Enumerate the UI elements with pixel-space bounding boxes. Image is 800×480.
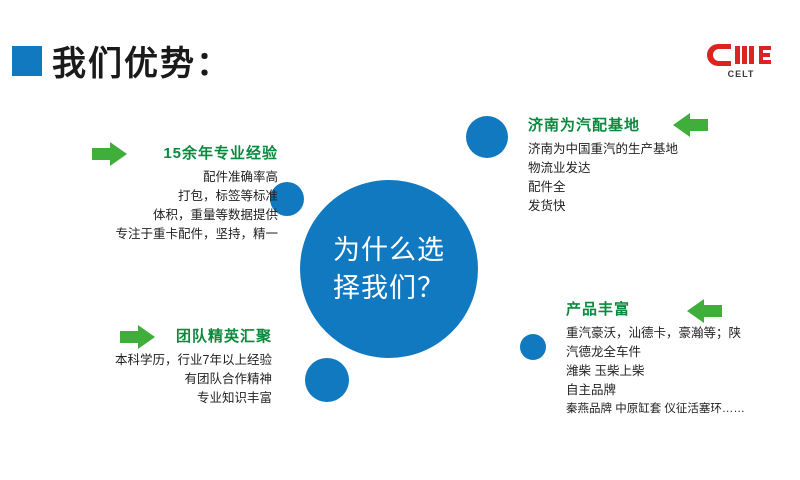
feature-line: 体积，重量等数据提供 [0,206,278,225]
feature-heading-team: 团队精英汇聚 [176,325,272,346]
feature-line: 秦燕品牌 中原缸套 仪征活塞环…… [566,400,800,419]
feature-body-experience: 配件准确率高 打包，标签等标准 体积，重量等数据提供 专注于重卡配件，坚持，精一 [0,168,292,244]
celt-logo-icon: CELT [704,38,778,82]
feature-block-team: 团队精英汇聚 本科学历，行业7年以上经验 有团队合作精神 专业知识丰富 [0,325,300,408]
feature-heading-experience: 15余年专业经验 [163,142,278,163]
logo-text: CELT [728,69,755,79]
feature-line: 汽德龙全车件 [566,343,800,362]
feature-line: 专注于重卡配件，坚持，精一 [0,225,278,244]
feature-line: 济南为中国重汽的生产基地 [528,140,788,159]
logo-mark-icon [705,42,777,68]
center-line-2: 择我们？ [333,269,445,307]
feature-heading-products: 产品丰富 [566,298,800,319]
feature-line: 重汽豪沃，汕德卡，豪瀚等；陕 [566,324,800,343]
feature-body-products: 重汽豪沃，汕德卡，豪瀚等；陕 汽德龙全车件 潍柴 玉柴上柴 自主品牌 秦燕品牌 … [566,324,800,419]
feature-block-experience: 15余年专业经验 配件准确率高 打包，标签等标准 体积，重量等数据提供 专注于重… [0,142,292,244]
center-circle: 为什么选 择我们？ [300,180,478,358]
feature-block-base: 济南为汽配基地 济南为中国重汽的生产基地 物流业发达 配件全 发货快 [528,114,788,216]
feature-line: 专业知识丰富 [0,389,272,408]
feature-line: 打包，标签等标准 [0,187,278,206]
blue-dot-icon-team [305,358,349,402]
feature-line: 配件准确率高 [0,168,278,187]
center-circle-text: 为什么选 择我们？ [333,231,445,307]
title-bullet-icon [12,46,42,76]
feature-line: 潍柴 玉柴上柴 [566,362,800,381]
feature-heading-base: 济南为汽配基地 [528,114,788,135]
feature-line: 物流业发达 [528,159,788,178]
blue-dot-icon-base [466,116,508,158]
slide-canvas: 我们优势： CELT 为什么选 择我们？ 15余年专业经验 [0,0,800,480]
feature-body-base: 济南为中国重汽的生产基地 物流业发达 配件全 发货快 [528,140,788,216]
feature-block-products: 产品丰富 重汽豪沃，汕德卡，豪瀚等；陕 汽德龙全车件 潍柴 玉柴上柴 自主品牌 … [566,298,800,419]
feature-line: 配件全 [528,178,788,197]
feature-line: 有团队合作精神 [0,370,272,389]
feature-line: 自主品牌 [566,381,800,400]
feature-body-team: 本科学历，行业7年以上经验 有团队合作精神 专业知识丰富 [0,351,300,408]
feature-line: 本科学历，行业7年以上经验 [0,351,272,370]
feature-line: 发货快 [528,197,788,216]
page-title: 我们优势： [52,36,232,85]
blue-dot-icon-products [520,334,546,360]
center-line-1: 为什么选 [333,231,445,269]
